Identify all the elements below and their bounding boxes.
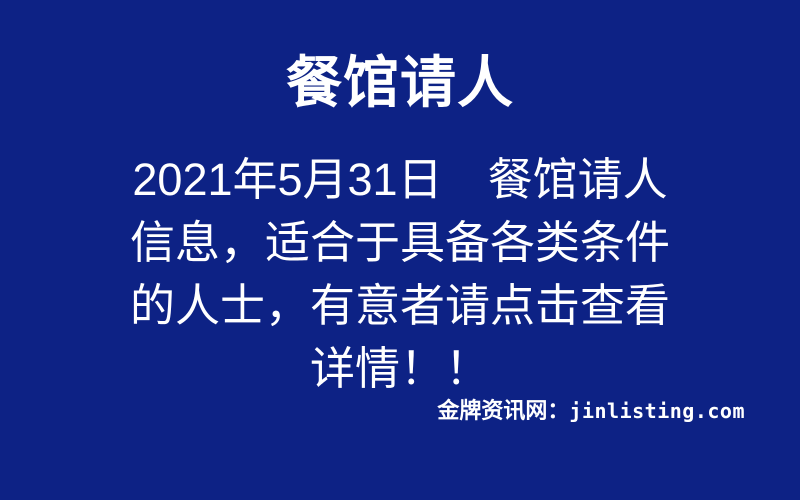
body-line-1: 2021年5月31日 餐馆请人 xyxy=(100,148,700,211)
poster-canvas: 餐馆请人 2021年5月31日 餐馆请人 信息，适合于具备各类条件 的人士，有意… xyxy=(0,0,800,500)
watermark-url: jinlisting.com xyxy=(569,399,745,423)
body-line-2: 信息，适合于具备各类条件 xyxy=(100,211,700,274)
watermark-site-name: 金牌资讯网： xyxy=(437,398,569,423)
watermark: 金牌资讯网：jinlisting.com xyxy=(0,398,745,424)
body-line-3: 的人士，有意者请点击查看 xyxy=(100,274,700,337)
body-line-4: 详情！！ xyxy=(100,337,700,400)
poster-body-text: 2021年5月31日 餐馆请人 信息，适合于具备各类条件 的人士，有意者请点击查… xyxy=(100,148,700,400)
page-title: 餐馆请人 xyxy=(0,52,800,114)
